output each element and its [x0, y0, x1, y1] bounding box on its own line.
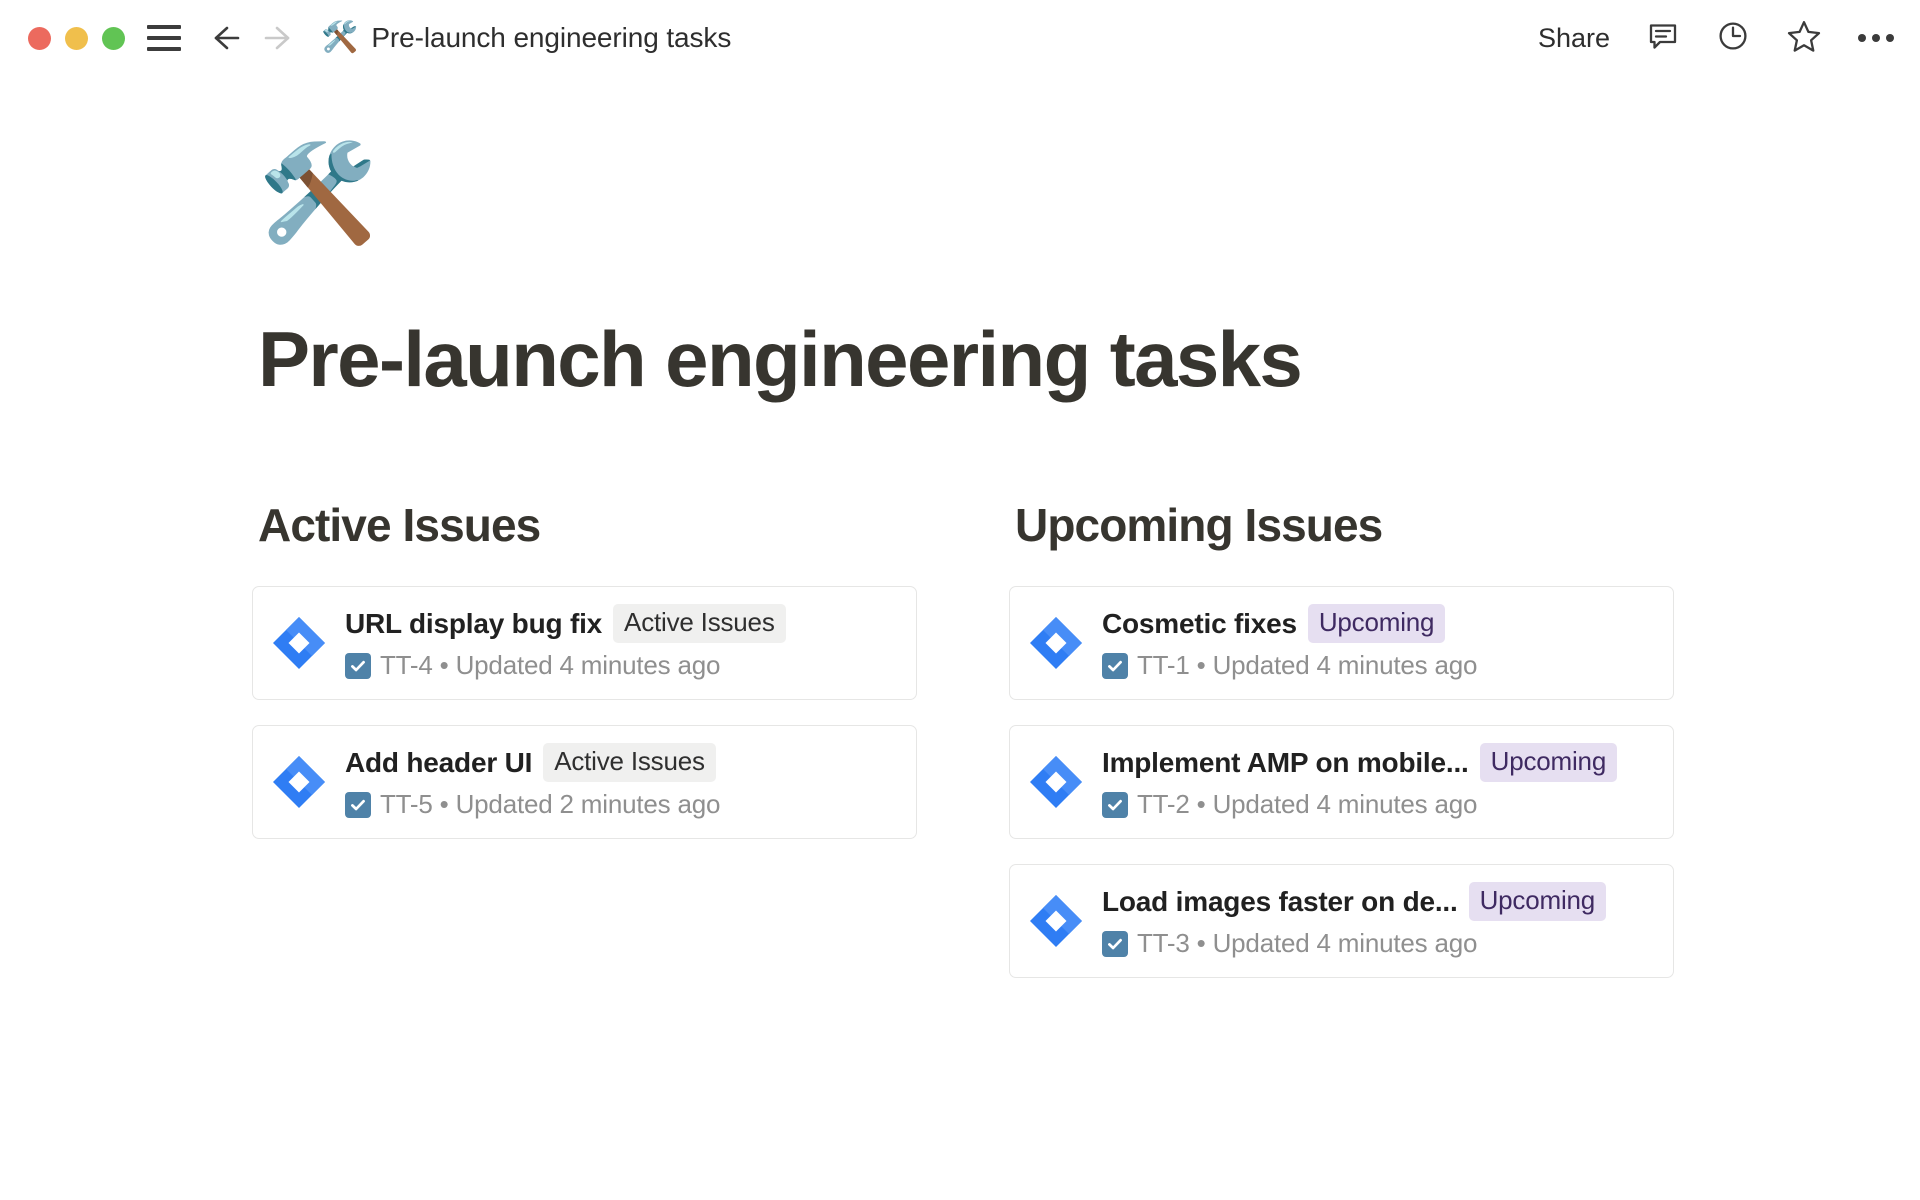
issue-title: Load images faster on de...: [1102, 886, 1458, 918]
forward-arrow-icon[interactable]: [263, 23, 297, 53]
issue-card-meta: TT-2 • Updated 4 minutes ago: [1102, 789, 1655, 820]
tab-emoji-icon: 🛠️: [321, 23, 358, 53]
clock-history-icon[interactable]: [1716, 19, 1750, 58]
more-options-icon[interactable]: [1858, 34, 1894, 42]
jira-icon: [1028, 754, 1084, 810]
issue-card-body: Cosmetic fixes Upcoming TT-1 • Updated 4…: [1102, 604, 1655, 681]
issue-card[interactable]: Add header UI Active Issues TT-5 • Updat…: [252, 725, 917, 839]
column-heading: Upcoming Issues: [1015, 502, 1674, 548]
comment-icon[interactable]: [1646, 19, 1680, 58]
column-upcoming-issues: Upcoming Issues Cosmetic fixes Upcoming: [1009, 502, 1674, 1003]
hamburger-line: [147, 47, 181, 51]
issue-title: Cosmetic fixes: [1102, 608, 1297, 640]
jira-icon: [1028, 615, 1084, 671]
jira-icon: [271, 754, 327, 810]
more-dot: [1886, 34, 1894, 42]
checkbox-checked-icon[interactable]: [1102, 792, 1128, 818]
column-heading: Active Issues: [258, 502, 917, 548]
tab-title: Pre-launch engineering tasks: [371, 22, 731, 54]
page-emoji-icon[interactable]: 🛠️: [258, 144, 1920, 264]
status-badge: Upcoming: [1308, 604, 1445, 643]
titlebar-actions: Share: [1538, 19, 1894, 58]
issue-card-body: Implement AMP on mobile... Upcoming TT-2…: [1102, 743, 1655, 820]
page-title[interactable]: Pre-launch engineering tasks: [258, 320, 1920, 398]
hamburger-line: [147, 36, 181, 40]
checkbox-checked-icon[interactable]: [1102, 931, 1128, 957]
issue-card-header: URL display bug fix Active Issues: [345, 604, 898, 643]
issue-card[interactable]: URL display bug fix Active Issues TT-4 •…: [252, 586, 917, 700]
status-badge: Active Issues: [613, 604, 786, 643]
issue-meta: TT-3 • Updated 4 minutes ago: [1137, 928, 1477, 959]
app-window: 🛠️ Pre-launch engineering tasks Share: [0, 0, 1920, 1200]
issue-card-body: Add header UI Active Issues TT-5 • Updat…: [345, 743, 898, 820]
window-controls: [28, 27, 125, 50]
more-dot: [1858, 34, 1866, 42]
navigation-arrows: [207, 23, 297, 53]
issue-card-meta: TT-5 • Updated 2 minutes ago: [345, 789, 898, 820]
maximize-window-button[interactable]: [102, 27, 125, 50]
jira-icon: [271, 615, 327, 671]
issue-title: URL display bug fix: [345, 608, 602, 640]
minimize-window-button[interactable]: [65, 27, 88, 50]
jira-icon: [1028, 893, 1084, 949]
issue-card-meta: TT-4 • Updated 4 minutes ago: [345, 650, 898, 681]
hamburger-menu-icon[interactable]: [147, 25, 181, 51]
issue-title: Implement AMP on mobile...: [1102, 747, 1469, 779]
issue-card[interactable]: Load images faster on de... Upcoming TT-…: [1009, 864, 1674, 978]
close-window-button[interactable]: [28, 27, 51, 50]
issue-card-body: URL display bug fix Active Issues TT-4 •…: [345, 604, 898, 681]
column-active-issues: Active Issues URL display bug fix Active…: [252, 502, 917, 1003]
issue-card-meta: TT-3 • Updated 4 minutes ago: [1102, 928, 1655, 959]
checkbox-checked-icon[interactable]: [345, 792, 371, 818]
issue-meta: TT-5 • Updated 2 minutes ago: [380, 789, 720, 820]
status-badge: Upcoming: [1480, 743, 1617, 782]
checkbox-checked-icon[interactable]: [345, 653, 371, 679]
checkbox-checked-icon[interactable]: [1102, 653, 1128, 679]
issue-meta: TT-4 • Updated 4 minutes ago: [380, 650, 720, 681]
hamburger-line: [147, 25, 181, 29]
star-icon[interactable]: [1786, 19, 1822, 58]
titlebar: 🛠️ Pre-launch engineering tasks Share: [0, 0, 1920, 76]
status-badge: Upcoming: [1469, 882, 1606, 921]
issue-columns: Active Issues URL display bug fix Active…: [0, 502, 1920, 1003]
issue-card-body: Load images faster on de... Upcoming TT-…: [1102, 882, 1655, 959]
issue-card-header: Implement AMP on mobile... Upcoming: [1102, 743, 1655, 782]
issue-meta: TT-2 • Updated 4 minutes ago: [1137, 789, 1477, 820]
issue-card[interactable]: Cosmetic fixes Upcoming TT-1 • Updated 4…: [1009, 586, 1674, 700]
issue-card-meta: TT-1 • Updated 4 minutes ago: [1102, 650, 1655, 681]
back-arrow-icon[interactable]: [207, 23, 241, 53]
share-button[interactable]: Share: [1538, 23, 1610, 54]
issue-card[interactable]: Implement AMP on mobile... Upcoming TT-2…: [1009, 725, 1674, 839]
issue-card-header: Cosmetic fixes Upcoming: [1102, 604, 1655, 643]
issue-title: Add header UI: [345, 747, 532, 779]
page-content: 🛠️ Pre-launch engineering tasks Active I…: [0, 76, 1920, 1003]
issue-meta: TT-1 • Updated 4 minutes ago: [1137, 650, 1477, 681]
issue-card-header: Add header UI Active Issues: [345, 743, 898, 782]
status-badge: Active Issues: [543, 743, 716, 782]
more-dot: [1872, 34, 1880, 42]
issue-card-header: Load images faster on de... Upcoming: [1102, 882, 1655, 921]
